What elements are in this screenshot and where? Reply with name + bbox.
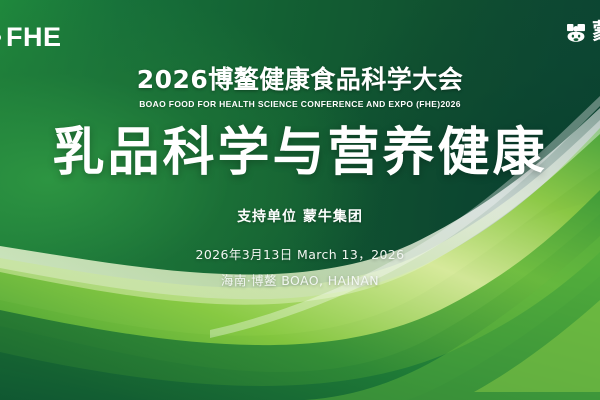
headline-theme: 乳品科学与营养健康: [0, 126, 600, 181]
conference-title-en: BOAO FOOD FOR HEALTH SCIENCE CONFERENCE …: [0, 99, 600, 109]
supporter-line: 支持单位 蒙牛集团: [0, 206, 600, 226]
banner-content: 2026博鳌健康食品科学大会 BOAO FOOD FOR HEALTH SCIE…: [0, 0, 600, 289]
conference-title-cn: 2026博鳌健康食品科学大会: [0, 66, 600, 95]
conference-banner: FHE 蒙 2026博鳌健康食品科学大会 BOAO FOOD FOR HEALT…: [0, 0, 600, 400]
event-location: 海南·博鳌 BOAO, HAINAN: [0, 270, 600, 289]
event-date: 2026年3月13日 March 13，2026: [0, 244, 600, 263]
